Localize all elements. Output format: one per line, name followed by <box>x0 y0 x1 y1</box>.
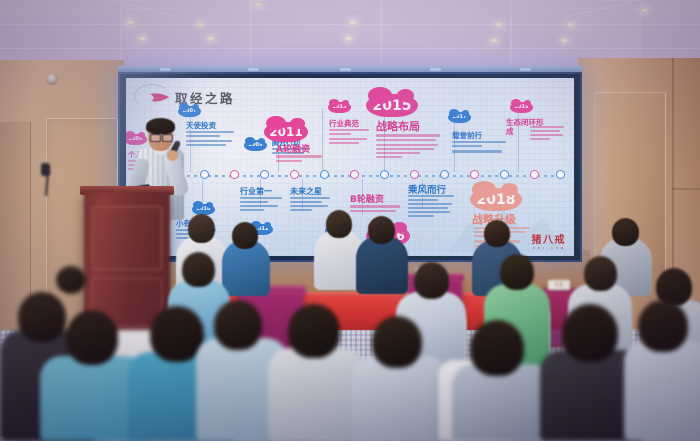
milestone-heading-2007: 天使投资 <box>186 120 216 131</box>
milestone-heading-2016: 乘风而行 <box>408 182 446 196</box>
year-badge-2015: 2015 <box>366 94 418 117</box>
year-badge-2018: 2018 <box>470 188 522 211</box>
milestone-heading-2014: B轮融资 <box>350 192 384 205</box>
year-badge-2019: 2019 <box>510 102 533 113</box>
year-badge-2006: 2006 <box>126 134 147 145</box>
milestone-heading-2011: A轮融资 <box>276 142 310 155</box>
podium-mic-head <box>41 163 50 176</box>
milestone-body-2011 <box>276 155 324 164</box>
milestone-body-2015 <box>376 134 442 160</box>
milestone-heading-2015: 战略布局 <box>376 118 420 134</box>
year-badge-2011: 2011 <box>264 122 308 142</box>
year-badge-2007: 2007 <box>178 106 201 117</box>
swoosh-icon <box>150 92 170 103</box>
milestone-body-2013-top <box>329 129 371 146</box>
wall-seam-horizontal <box>672 188 700 190</box>
name-card-2: 王总 <box>548 280 570 290</box>
milestone-body-2016 <box>408 195 456 219</box>
milestone-body-2012 <box>240 197 284 213</box>
podium-front-panel <box>92 206 162 270</box>
milestone-body-future-star <box>290 197 332 213</box>
milestone-heading-2017: 载誉前行 <box>452 130 482 141</box>
logo-text-en: Z B J . C O M <box>532 247 567 250</box>
milestone-body-2019 <box>530 126 566 142</box>
year-badge-2013-top: 2013 <box>328 102 351 113</box>
speaker-hair <box>146 118 175 134</box>
year-badge-2017: 2017 <box>448 112 471 123</box>
logo-text-cn: 猪八戒 <box>532 231 567 246</box>
milestone-body-2017 <box>452 141 508 155</box>
milestone-heading-2012: 行业第一 <box>240 186 272 197</box>
milestone-heading-2013-top: 行业典范 <box>329 118 359 129</box>
company-logo: 猪八戒 Z B J . C O M <box>532 231 567 250</box>
glasses-icon <box>150 134 161 142</box>
glasses-icon-right <box>162 134 173 142</box>
milestone-body-2014 <box>350 205 402 214</box>
security-camera-icon <box>47 74 57 83</box>
presentation-photo-scene: 取经之路 <box>0 0 700 441</box>
milestone-heading-future-star: 未来之星 <box>290 186 322 197</box>
milestone-body-2007 <box>186 131 236 148</box>
speaker-right-hand <box>167 150 178 161</box>
